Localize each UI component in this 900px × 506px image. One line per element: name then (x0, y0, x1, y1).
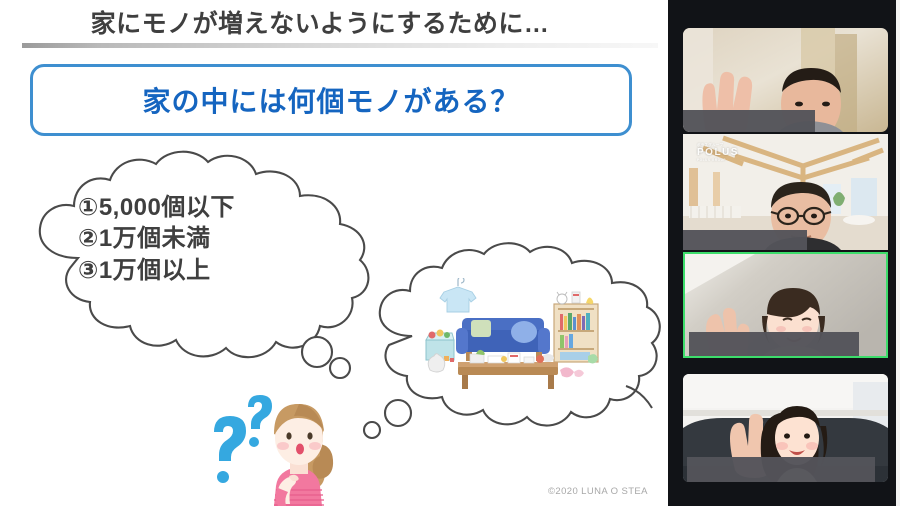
participant-name-redaction-bar (687, 457, 875, 482)
video-tile-participant-4[interactable] (683, 374, 888, 482)
question-box-text: 家の中には何個モノがある？ (142, 80, 519, 120)
girl-character-icon (274, 404, 333, 506)
question-mark-icon (248, 395, 272, 447)
option-item-3: ③1万個以上 (78, 255, 358, 286)
option-item-2: ②1万個未満 (78, 223, 358, 254)
polus-watermark: ポラスグループ POLUS POLUS GROUP (697, 144, 739, 163)
participant-name-redaction-bar (683, 230, 807, 250)
options-list: ①5,000個以下 ②1万個未満 ③1万個以上 (78, 192, 358, 286)
question-mark-icon (214, 416, 246, 483)
low-table-icon (458, 350, 558, 389)
girl-thinking-illustration (196, 378, 356, 506)
video-tile-participant-3[interactable] (683, 252, 888, 358)
video-conference-panel: ポラスグループ POLUS POLUS GROUP (668, 0, 896, 506)
video-tile-participant-1[interactable] (683, 28, 888, 132)
title-divider (22, 43, 658, 48)
video-tile-participant-2[interactable]: ポラスグループ POLUS POLUS GROUP (683, 134, 888, 250)
polus-watermark-sub: POLUS GROUP (697, 159, 739, 162)
option-item-1: ①5,000個以下 (78, 192, 358, 223)
living-room-illustration (418, 278, 618, 403)
right-edge-strip (896, 0, 900, 506)
hanging-shirt-icon (440, 278, 476, 312)
polus-watermark-text: POLUS (697, 147, 739, 158)
slide-area: 家にモノが増えないようにするために… 家の中には何個モノがある？ ①5,000個… (0, 0, 668, 506)
participant-name-redaction-bar (683, 110, 815, 132)
copyright-text: ©2020 LUNA O STEA (548, 486, 648, 497)
bookshelf-icon (554, 292, 598, 362)
participant-name-redaction-bar (689, 332, 859, 356)
polus-watermark-sup: ポラスグループ (697, 144, 739, 147)
presentation-screen: 家にモノが増えないようにするために… 家の中には何個モノがある？ ①5,000個… (0, 0, 900, 506)
question-box: 家の中には何個モノがある？ (30, 64, 632, 136)
slide-title: 家にモノが増えないようにするために… (0, 4, 640, 40)
